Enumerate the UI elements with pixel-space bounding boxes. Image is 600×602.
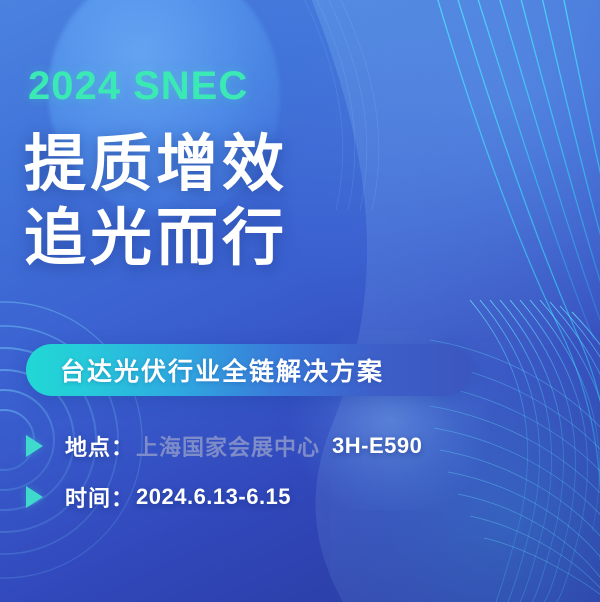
headline-block: 提质增效 追光而行 xyxy=(24,128,288,276)
solution-pill-label: 台达光伏行业全链解决方案 xyxy=(60,352,384,388)
time-label: 时间： xyxy=(65,481,134,513)
snec-promo-banner: 2024 SNEC 提质增效 追光而行 台达光伏行业全链解决方案 地点： 上海国… xyxy=(0,0,600,602)
headline-line-1: 提质增效 xyxy=(24,130,288,199)
location-venue: 上海国家会展中心 xyxy=(136,430,320,462)
solution-pill[interactable]: 台达光伏行业全链解决方案 xyxy=(26,344,472,396)
headline-line-2: 追光而行 xyxy=(24,202,288,276)
event-eyebrow: 2024 SNEC xyxy=(28,64,248,109)
location-label: 地点： xyxy=(65,430,134,462)
banner-content: 2024 SNEC 提质增效 追光而行 台达光伏行业全链解决方案 地点： 上海国… xyxy=(0,0,600,602)
time-value: 2024.6.13-6.15 xyxy=(136,484,291,510)
play-triangle-icon xyxy=(26,486,43,508)
play-triangle-icon xyxy=(26,435,43,457)
location-booth: 3H-E590 xyxy=(332,433,422,459)
location-row: 地点： 上海国家会展中心 3H-E590 xyxy=(26,430,422,462)
time-row: 时间： 2024.6.13-6.15 xyxy=(26,481,291,513)
